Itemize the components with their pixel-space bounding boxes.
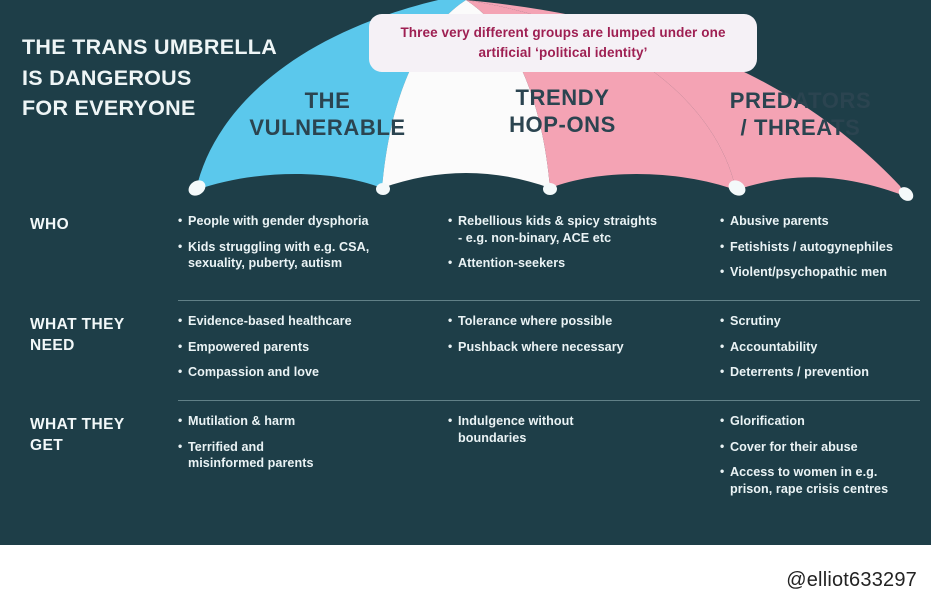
row-divider — [178, 300, 920, 301]
list-item: Kids struggling with e.g. CSA, sexuality… — [178, 239, 442, 272]
row-need-col-the-vulnerable: Evidence-based healthcare Empowered pare… — [178, 300, 448, 390]
list-item: Evidence-based healthcare — [178, 313, 442, 330]
list-item: Fetishists / autogynephiles — [720, 239, 931, 256]
list-item: Indulgence without boundaries — [448, 413, 714, 446]
row-label-who: WHO — [0, 200, 178, 235]
table-row-who: WHO People with gender dysphoria Kids st… — [0, 200, 931, 300]
bullet-list: Abusive parents Fetishists / autogynephi… — [720, 213, 931, 281]
row-who-col-the-vulnerable: People with gender dysphoria Kids strugg… — [178, 200, 448, 281]
table-row-what-they-need: WHAT THEY NEED Evidence-based healthcare… — [0, 300, 931, 400]
list-item: Compassion and love — [178, 364, 442, 381]
row-get-col-trendy-hop-ons: Indulgence without boundaries — [448, 400, 720, 455]
table-row-what-they-get: WHAT THEY GET Mutilation & harm Terrifie… — [0, 400, 931, 530]
list-item: Rebellious kids & spicy straights - e.g.… — [448, 213, 714, 246]
umbrella-tip-mid-left — [376, 183, 390, 195]
bullet-list: Rebellious kids & spicy straights - e.g.… — [448, 213, 714, 272]
watermark-handle: @elliot633297 — [786, 569, 917, 592]
row-get-col-the-vulnerable: Mutilation & harm Terrified and misinfor… — [178, 400, 448, 481]
bullet-list: Scrutiny Accountability Deterrents / pre… — [720, 313, 931, 381]
list-item: Attention-seekers — [448, 255, 714, 272]
list-item: Empowered parents — [178, 339, 442, 356]
row-who-col-trendy-hop-ons: Rebellious kids & spicy straights - e.g.… — [448, 200, 720, 281]
bullet-list: People with gender dysphoria Kids strugg… — [178, 213, 442, 272]
bullet-list: Glorification Cover for their abuse Acce… — [720, 413, 931, 498]
list-item: Scrutiny — [720, 313, 931, 330]
list-item: Accountability — [720, 339, 931, 356]
umbrella-label-trendy-hop-ons: TRENDY HOP-ONS — [460, 85, 665, 139]
list-item: Mutilation & harm — [178, 413, 442, 430]
content-grid: WHO People with gender dysphoria Kids st… — [0, 200, 931, 530]
bullet-list: Tolerance where possible Pushback where … — [448, 313, 714, 355]
list-item: Violent/psychopathic men — [720, 264, 931, 281]
umbrella-tip-mid-right — [543, 183, 557, 195]
list-item: People with gender dysphoria — [178, 213, 442, 230]
row-label-what-they-need: WHAT THEY NEED — [0, 300, 178, 357]
list-item: Deterrents / prevention — [720, 364, 931, 381]
list-item: Cover for their abuse — [720, 439, 931, 456]
row-who-col-predators-threats: Abusive parents Fetishists / autogynephi… — [720, 200, 931, 290]
list-item: Terrified and misinformed parents — [178, 439, 442, 472]
row-divider — [178, 400, 920, 401]
infographic-board: THE TRANS UMBRELLA IS DANGEROUS FOR EVER… — [0, 0, 931, 545]
umbrella-label-the-vulnerable: THE VULNERABLE — [225, 88, 430, 142]
list-item: Abusive parents — [720, 213, 931, 230]
list-item: Pushback where necessary — [448, 339, 714, 356]
infographic-page: THE TRANS UMBRELLA IS DANGEROUS FOR EVER… — [0, 0, 931, 600]
bullet-list: Evidence-based healthcare Empowered pare… — [178, 313, 442, 381]
bullet-list: Mutilation & harm Terrified and misinfor… — [178, 413, 442, 472]
list-item: Glorification — [720, 413, 931, 430]
callout-bubble: Three very different groups are lumped u… — [369, 14, 757, 72]
row-get-col-predators-threats: Glorification Cover for their abuse Acce… — [720, 400, 931, 507]
row-need-col-trendy-hop-ons: Tolerance where possible Pushback where … — [448, 300, 720, 364]
list-item: Tolerance where possible — [448, 313, 714, 330]
list-item: Access to women in e.g. prison, rape cri… — [720, 464, 931, 497]
row-label-what-they-get: WHAT THEY GET — [0, 400, 178, 457]
bullet-list: Indulgence without boundaries — [448, 413, 714, 446]
umbrella-label-predators-threats: PREDATORS / THREATS — [693, 88, 908, 142]
row-need-col-predators-threats: Scrutiny Accountability Deterrents / pre… — [720, 300, 931, 390]
